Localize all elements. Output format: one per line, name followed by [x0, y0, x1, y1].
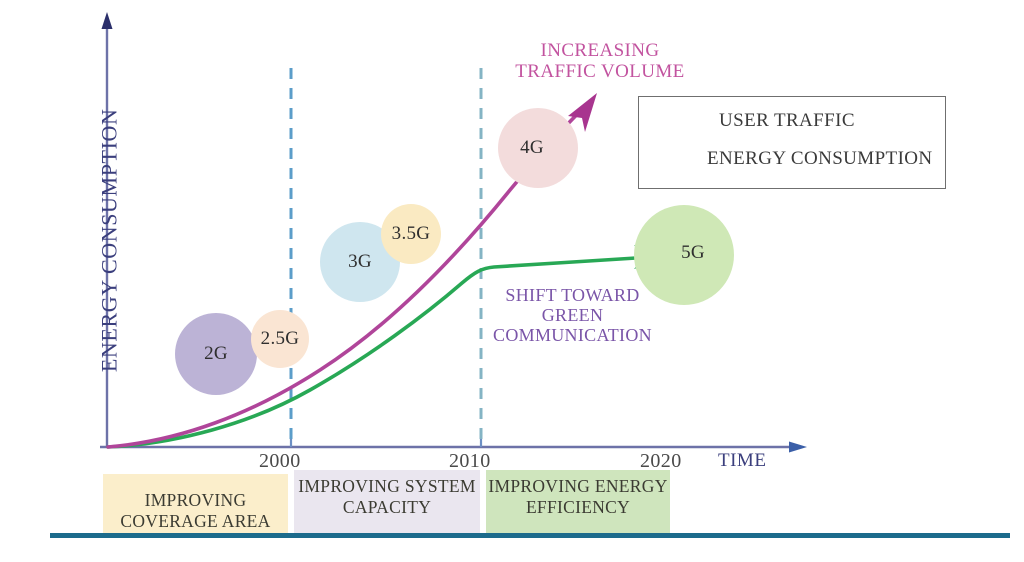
legend-label: USER TRAFFIC [719, 110, 855, 132]
phase-band-coverage-area[interactable]: IMPROVING COVERAGE AREA [103, 474, 288, 536]
bubble-label: 2G [204, 343, 228, 365]
bubble-label: 3G [348, 251, 372, 273]
bubble-label: 2.5G [261, 328, 300, 350]
phase-band-label: IMPROVING COVERAGE AREA [103, 490, 288, 533]
bubble-label: 3.5G [392, 223, 431, 245]
annotation-shift-toward-green-communication: SHIFT TOWARD GREEN COMMUNICATION [440, 285, 705, 345]
chart-legend: USER TRAFFIC ENERGY CONSUMPTION [638, 96, 946, 189]
phase-band-label: IMPROVING SYSTEM CAPACITY [294, 476, 480, 519]
chart-figure: 2G 2.5G 3G 3.5G 4G 5G ENERGY CONSUMPTION… [0, 0, 1024, 562]
node-bubble-4g[interactable]: 4G [498, 108, 578, 188]
bubble-label: 5G [681, 242, 705, 264]
phase-band-energy-efficiency[interactable]: IMPROVING ENERGY EFFICIENCY [486, 470, 670, 536]
node-bubble-3-5g[interactable]: 3.5G [381, 204, 441, 264]
x-axis-arrowhead [789, 442, 807, 453]
annotation-increasing-traffic-volume: INCREASING TRAFFIC VOLUME [455, 40, 745, 83]
y-axis-arrowhead [102, 12, 113, 29]
bubble-label: 4G [520, 137, 544, 159]
node-bubble-2-5g[interactable]: 2.5G [251, 310, 309, 368]
y-axis-title: ENERGY CONSUMPTION [98, 90, 123, 390]
legend-item-energy-consumption[interactable]: ENERGY CONSUMPTION [639, 139, 945, 179]
legend-item-user-traffic[interactable]: USER TRAFFIC [639, 101, 945, 141]
footer-divider [50, 533, 1010, 538]
node-bubble-2g[interactable]: 2G [175, 313, 257, 395]
legend-label: ENERGY CONSUMPTION [707, 148, 933, 170]
phase-band-label: IMPROVING ENERGY EFFICIENCY [486, 476, 670, 519]
x-axis-title: TIME [718, 450, 766, 471]
series-traffic-arrowhead [568, 93, 597, 132]
phase-band-system-capacity[interactable]: IMPROVING SYSTEM CAPACITY [294, 470, 480, 536]
